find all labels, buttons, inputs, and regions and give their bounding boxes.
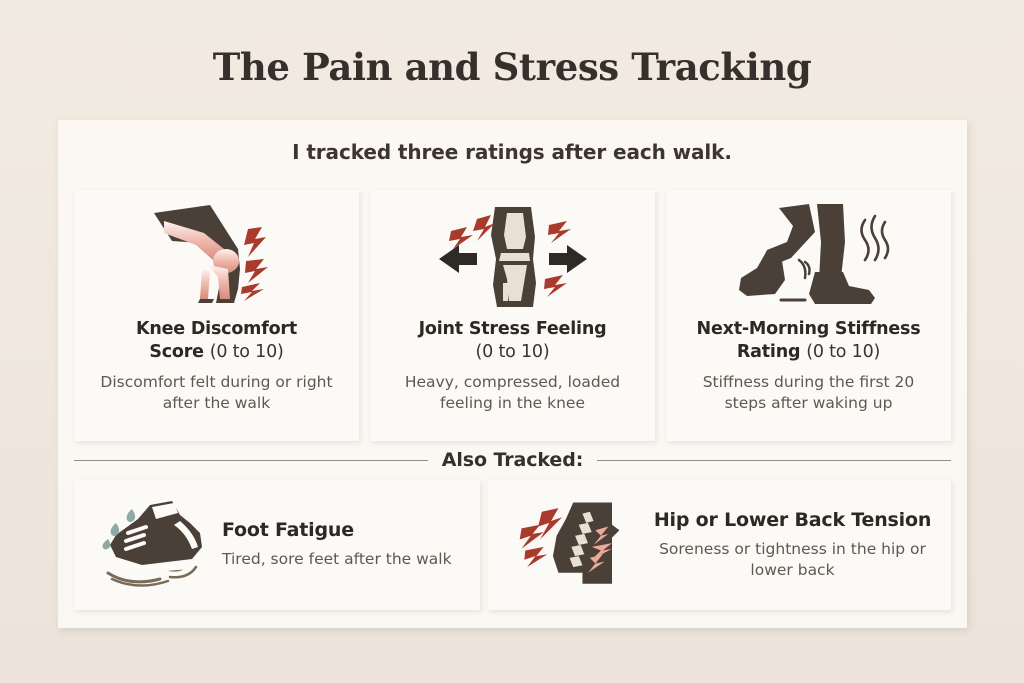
divider-rule-right xyxy=(597,460,951,461)
rating-card-title: Knee Discomfort Score (0 to 10) xyxy=(128,318,305,365)
also-tracked-title: Hip or Lower Back Tension xyxy=(644,509,941,533)
rating-card-description: Stiffness during the first 20 steps afte… xyxy=(666,372,951,415)
also-tracked-text: Hip or Lower Back Tension Soreness or ti… xyxy=(636,509,941,582)
rating-card-joint-stress: Joint Stress Feeling (0 to 10) Heavy, co… xyxy=(370,190,655,441)
also-tracked-title: Foot Fatigue xyxy=(222,519,474,543)
rating-cards-row: Knee Discomfort Score (0 to 10) Discomfo… xyxy=(74,190,951,441)
page-title: The Pain and Stress Tracking xyxy=(0,45,1024,89)
also-tracked-text: Foot Fatigue Tired, sore feet after the … xyxy=(214,519,474,570)
rating-card-title: Joint Stress Feeling (0 to 10) xyxy=(411,318,615,365)
walking-legs-stiffness-icon xyxy=(719,202,899,314)
rating-card-morning-stiffness: Next-Morning Stiffness Rating (0 to 10) … xyxy=(666,190,951,441)
rating-card-knee-discomfort: Knee Discomfort Score (0 to 10) Discomfo… xyxy=(74,190,359,441)
also-tracked-description: Soreness or tightness in the hip or lowe… xyxy=(644,539,941,582)
infographic-canvas: The Pain and Stress Tracking I tracked t… xyxy=(0,0,1024,683)
also-tracked-card-foot-fatigue: Foot Fatigue Tired, sore feet after the … xyxy=(74,480,480,610)
running-shoe-icon xyxy=(94,499,214,591)
knee-pain-icon xyxy=(142,202,292,314)
also-tracked-divider: Also Tracked: xyxy=(74,449,951,471)
divider-label: Also Tracked: xyxy=(442,449,583,471)
also-tracked-card-back-tension: Hip or Lower Back Tension Soreness or ti… xyxy=(488,480,951,610)
also-tracked-row: Foot Fatigue Tired, sore feet after the … xyxy=(74,480,951,610)
subtitle: I tracked three ratings after each walk. xyxy=(0,140,1024,164)
rating-card-description: Heavy, compressed, loaded feeling in the… xyxy=(370,372,655,415)
rating-card-title: Next-Morning Stiffness Rating (0 to 10) xyxy=(689,318,929,365)
divider-rule-left xyxy=(74,460,428,461)
also-tracked-description: Tired, sore feet after the walk xyxy=(222,549,474,570)
rating-card-description: Discomfort felt during or right after th… xyxy=(74,372,359,415)
joint-compression-icon xyxy=(433,202,593,314)
lower-back-pain-icon xyxy=(516,495,636,595)
